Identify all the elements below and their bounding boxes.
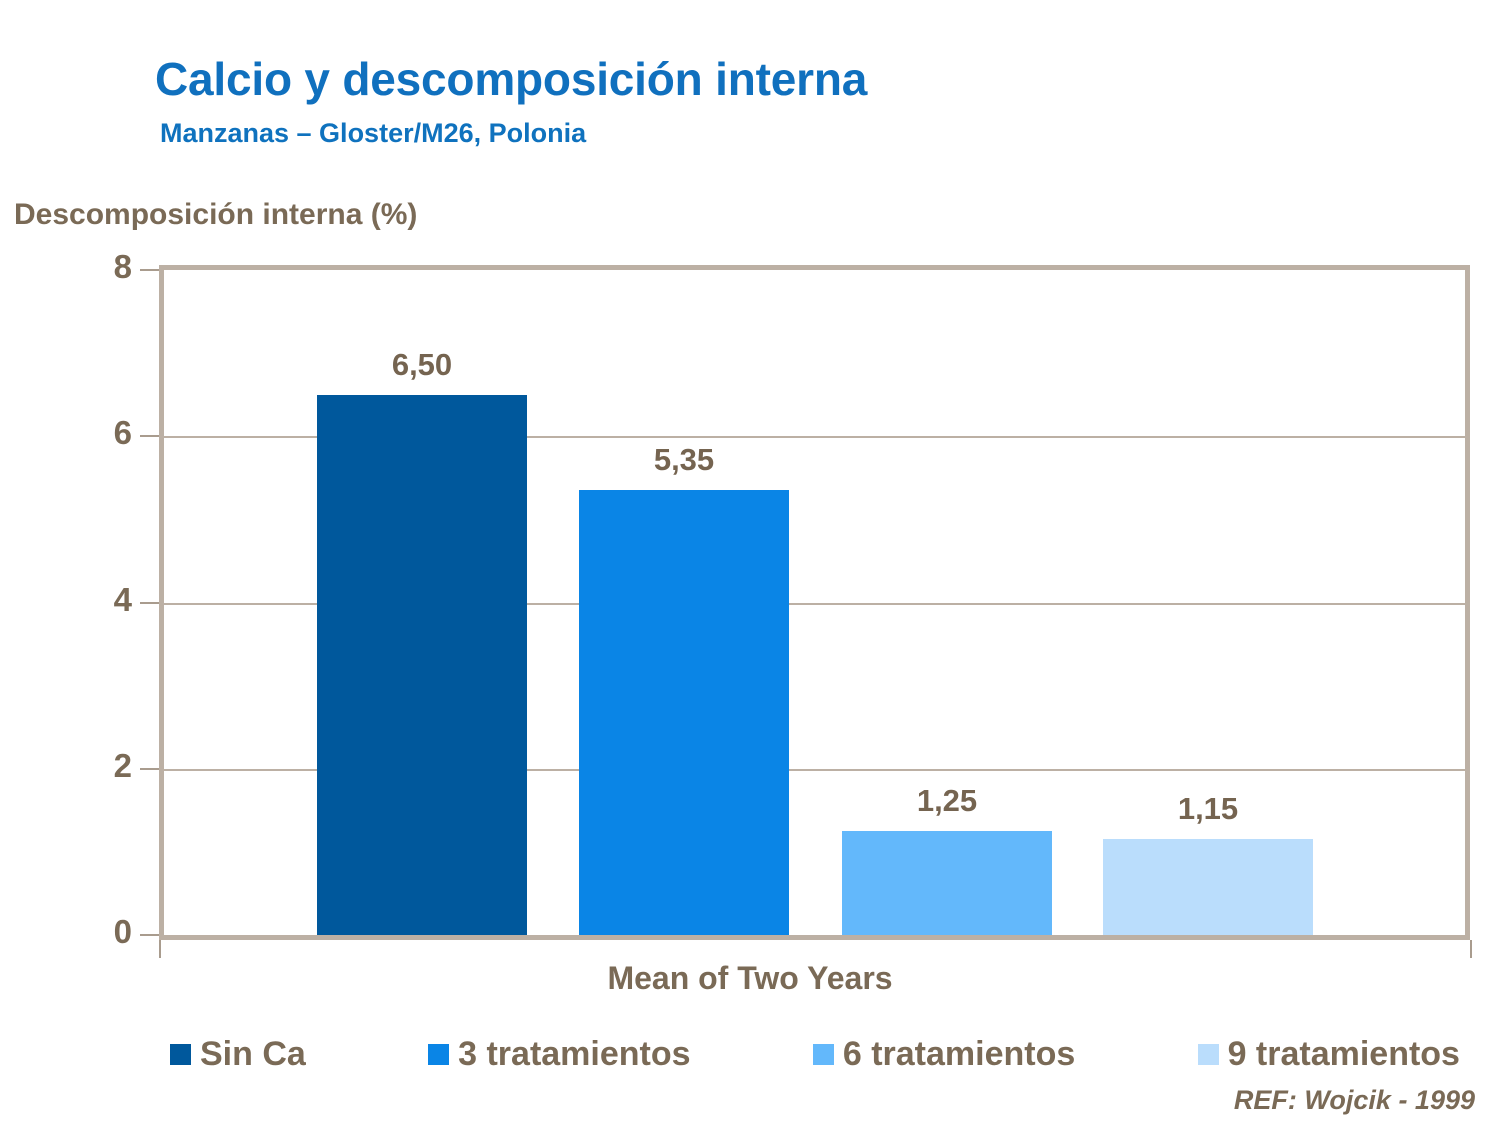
y-tick-label: 4 bbox=[12, 581, 132, 619]
y-tick-label: 8 bbox=[12, 248, 132, 286]
bar-2[interactable] bbox=[579, 490, 789, 935]
y-tick-mark bbox=[140, 269, 159, 271]
page-title: Calcio y descomposición interna bbox=[155, 52, 867, 106]
reference-note: REF: Wojcik - 1999 bbox=[1234, 1085, 1475, 1116]
y-tick-mark bbox=[140, 934, 159, 936]
bar-4[interactable] bbox=[1103, 839, 1313, 935]
x-tick-mark bbox=[159, 940, 161, 958]
y-tick-label: 0 bbox=[12, 913, 132, 951]
bar-1[interactable] bbox=[317, 395, 527, 935]
x-tick-mark bbox=[1470, 940, 1472, 958]
legend-swatch-icon bbox=[1198, 1044, 1219, 1065]
y-tick-mark bbox=[140, 768, 159, 770]
bar-value-label: 6,50 bbox=[317, 347, 527, 383]
legend-item-3[interactable]: 6 tratamientos bbox=[813, 1035, 1075, 1074]
bar-value-label: 1,15 bbox=[1103, 791, 1313, 827]
legend-label: 6 tratamientos bbox=[843, 1035, 1075, 1074]
y-tick-label: 2 bbox=[12, 747, 132, 785]
legend-label: Sin Ca bbox=[200, 1035, 306, 1074]
legend-swatch-icon bbox=[170, 1044, 191, 1065]
y-tick-mark bbox=[140, 602, 159, 604]
page-subtitle: Manzanas – Gloster/M26, Polonia bbox=[160, 118, 586, 149]
y-axis-title: Descomposición interna (%) bbox=[14, 198, 417, 232]
legend-item-4[interactable]: 9 tratamientos bbox=[1198, 1035, 1460, 1074]
legend-swatch-icon bbox=[428, 1044, 449, 1065]
bar-value-label: 5,35 bbox=[579, 442, 789, 478]
legend-label: 9 tratamientos bbox=[1228, 1035, 1460, 1074]
legend-label: 3 tratamientos bbox=[458, 1035, 690, 1074]
legend: Sin Ca3 tratamientos6 tratamientos9 trat… bbox=[170, 1030, 1460, 1078]
legend-swatch-icon bbox=[813, 1044, 834, 1065]
legend-item-1[interactable]: Sin Ca bbox=[170, 1035, 306, 1074]
bar-3[interactable] bbox=[842, 831, 1052, 935]
legend-item-2[interactable]: 3 tratamientos bbox=[428, 1035, 690, 1074]
y-tick-mark bbox=[140, 435, 159, 437]
y-tick-label: 6 bbox=[12, 414, 132, 452]
x-axis-title: Mean of Two Years bbox=[0, 960, 1500, 997]
bar-value-label: 1,25 bbox=[842, 783, 1052, 819]
